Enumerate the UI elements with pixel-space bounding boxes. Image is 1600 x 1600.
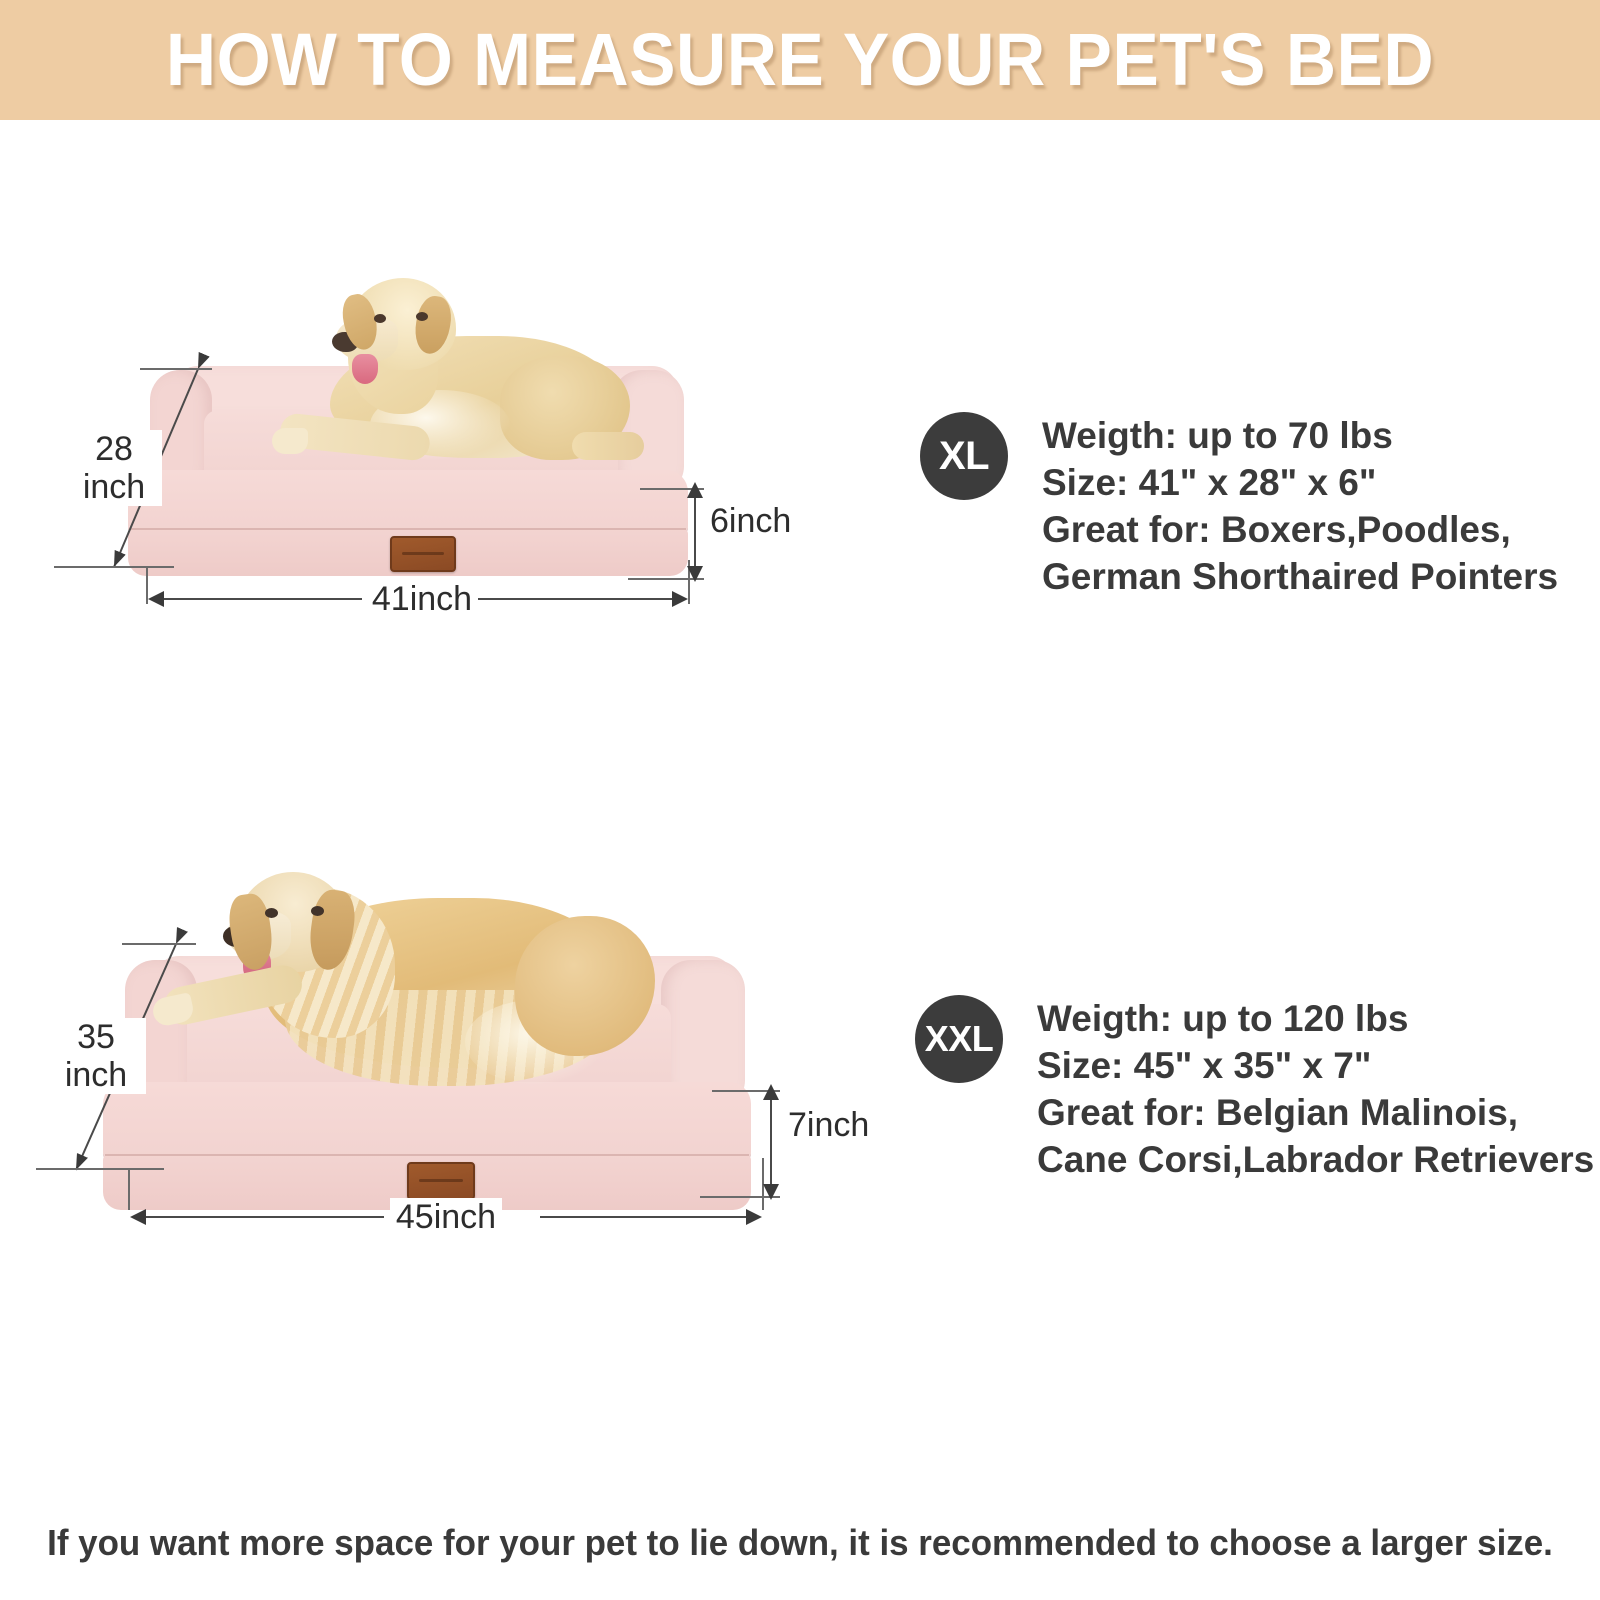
size-badge-xxl: XXL: [915, 995, 1003, 1083]
xl-width-label: 41inch: [368, 580, 476, 618]
xxl-height-arrow-top: [763, 1084, 779, 1100]
size-text-xxl: Weigth: up to 120 lbs Size: 45" x 35" x …: [1037, 995, 1594, 1183]
xl-width-line-right: [478, 598, 686, 600]
xl-depth-ext-top: [140, 368, 212, 370]
size-block-xxl: XXL Weigth: up to 120 lbs Size: 45" x 35…: [915, 995, 1595, 1183]
xl-height-label: 6inch: [710, 502, 820, 540]
xxl-width-ext-left: [128, 1168, 130, 1210]
xxl-depth-ext-bottom: [36, 1168, 164, 1170]
dog-rear-paw: [572, 432, 644, 460]
xxl-width-line-left: [134, 1216, 384, 1218]
dog-eye-left: [374, 314, 386, 323]
xxl-height-line: [770, 1094, 772, 1192]
xxl-depth-label: 35 inch: [46, 1018, 146, 1094]
size-text-xl: Weigth: up to 70 lbs Size: 41" x 28" x 6…: [1042, 412, 1558, 600]
xxl-depth-ext-top: [122, 943, 196, 945]
xl-width-arrow-left: [148, 591, 164, 607]
xxl-width-arrow-left: [130, 1209, 146, 1225]
xl-width-arrow-right: [672, 591, 688, 607]
xl-depth-ext-bottom: [54, 566, 174, 568]
page-title: HOW TO MEASURE YOUR PET'S BED: [48, 8, 1552, 112]
dog-front-paw: [272, 428, 308, 454]
dog-hindquarters: [515, 916, 655, 1056]
xxl-height-label: 7inch: [788, 1106, 898, 1144]
xxl-width-line-right: [540, 1216, 760, 1218]
dog-eye-right: [311, 906, 324, 916]
xxl-width-label: 45inch: [390, 1198, 502, 1236]
xl-depth-label: 28 inch: [66, 430, 162, 506]
dog-tongue: [352, 354, 378, 384]
dog-eye-left: [265, 908, 278, 918]
xl-height-arrow-bottom: [687, 566, 703, 582]
dog-eye-right: [416, 312, 428, 321]
footer-recommendation: If you want more space for your pet to l…: [24, 1522, 1576, 1564]
brand-leather-tag: [407, 1162, 475, 1200]
xxl-height-arrow-bottom: [763, 1184, 779, 1200]
xl-width-line-left: [152, 598, 362, 600]
brand-leather-tag: [390, 536, 456, 572]
size-badge-xl: XL: [920, 412, 1008, 500]
dog-golden-retriever: [135, 850, 675, 1140]
xxl-width-arrow-right: [746, 1209, 762, 1225]
xl-height-arrow-top: [687, 482, 703, 498]
size-block-xl: XL Weigth: up to 70 lbs Size: 41" x 28" …: [920, 412, 1580, 600]
dog-yellow-labrador: [220, 270, 640, 500]
xl-height-line: [694, 492, 696, 574]
